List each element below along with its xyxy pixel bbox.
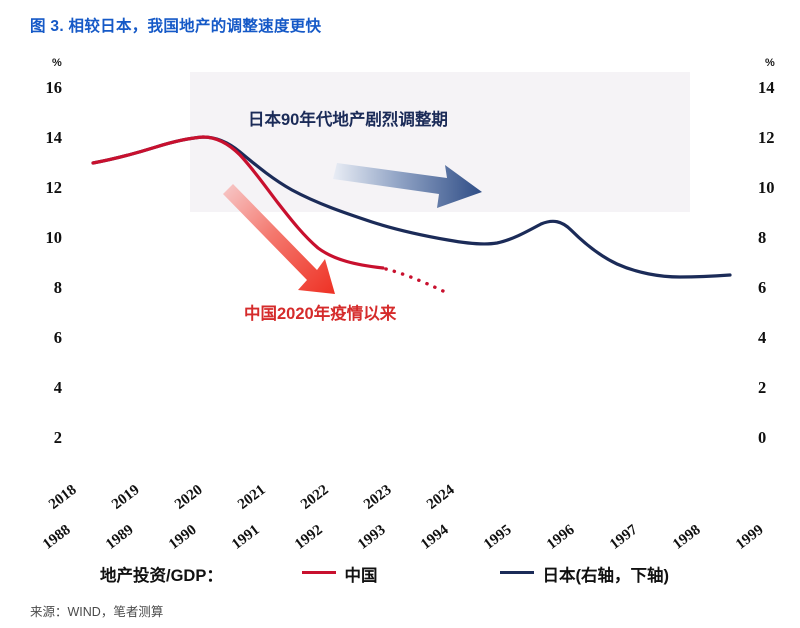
source-note: 来源：WIND，笔者测算 [30,601,163,620]
figure-container: 图 3. 相较日本，我国地产的调整速度更快 % % 16 14 12 10 8 … [0,0,800,628]
japan-trend-arrow [333,163,482,208]
japan-annotation: 日本90年代地产剧烈调整期 [248,106,448,130]
series-line-japan [93,137,730,277]
legend-swatch-china [302,571,336,574]
legend-item-china[interactable]: 中国 [302,562,377,586]
chart-plot-area [0,0,800,628]
legend-label-china: 中国 [344,567,377,585]
legend-title: 地产投资/GDP： [100,562,223,586]
legend-swatch-japan [500,571,534,574]
series-line-china-dotted [386,269,443,291]
chart-legend: 地产投资/GDP： 中国 日本(右轴，下轴) [0,560,800,594]
china-annotation: 中国2020年疫情以来 [244,300,396,324]
legend-item-japan[interactable]: 日本(右轴，下轴) [500,562,669,586]
legend-label-japan: 日本(右轴，下轴) [542,567,669,585]
china-trend-arrow [223,184,335,294]
